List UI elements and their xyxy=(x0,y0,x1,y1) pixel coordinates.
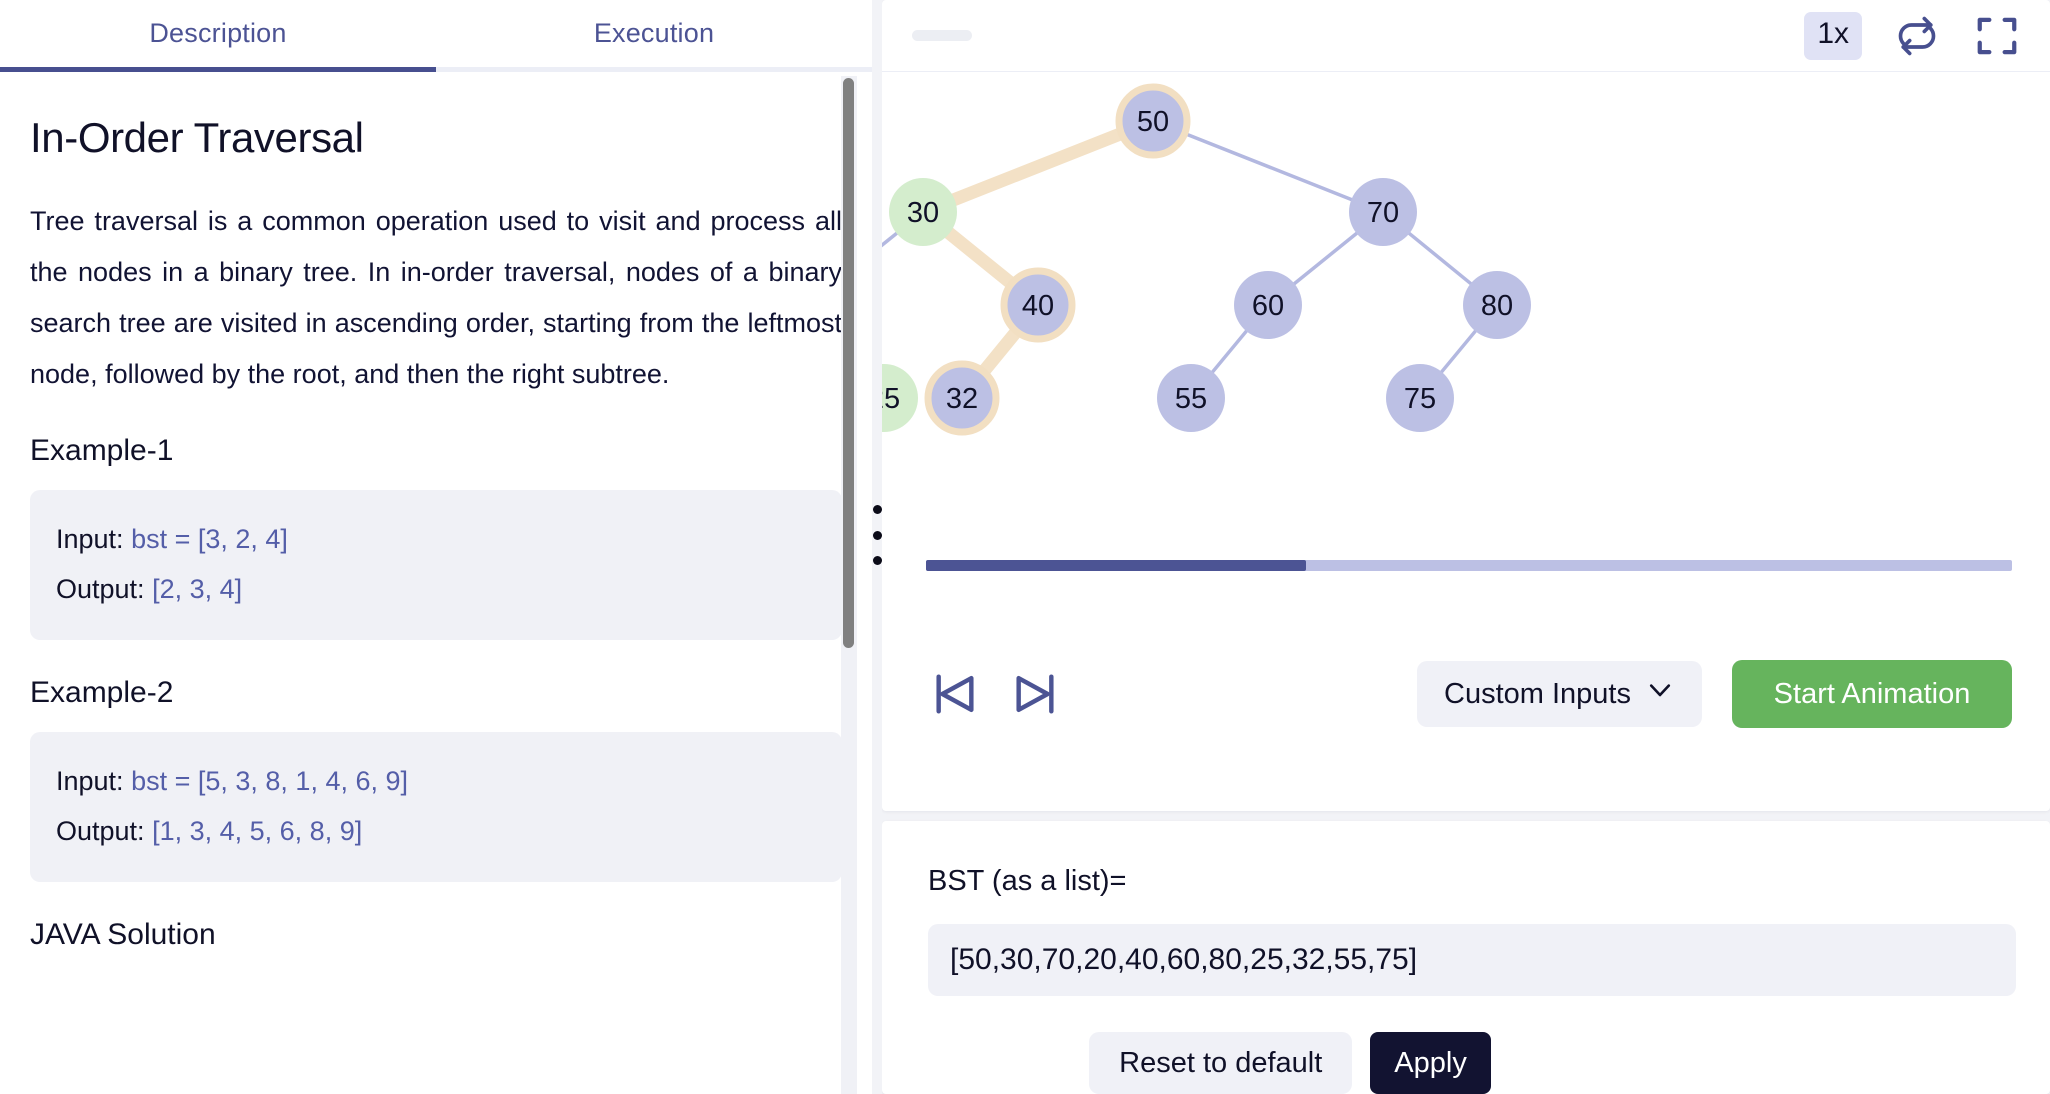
drag-pill-icon[interactable] xyxy=(912,30,972,41)
bst-input-field[interactable]: [50,30,70,20,40,60,80,25,32,55,75] xyxy=(928,924,2016,996)
tree-node-60[interactable]: 60 xyxy=(1234,271,1302,339)
example-2-output-line: Output: [1, 3, 4, 5, 6, 8, 9] xyxy=(56,806,816,856)
example-1-input-line: Input: bst = [3, 2, 4] xyxy=(56,514,816,564)
example-1-code-block: Input: bst = [3, 2, 4] Output: [2, 3, 4] xyxy=(30,490,842,640)
tree-node-40[interactable]: 40 xyxy=(1004,271,1072,339)
grip-dot xyxy=(873,531,882,540)
tree-node-label: 25 xyxy=(882,383,900,415)
example-2-code-block: Input: bst = [5, 3, 8, 1, 4, 6, 9] Outpu… xyxy=(30,732,842,882)
example-2-heading: Example-2 xyxy=(30,676,845,710)
input-action-buttons: Reset to default Apply xyxy=(928,1032,2012,1094)
description-scroll-area[interactable]: In-Order Traversal Tree traversal is a c… xyxy=(0,72,872,1094)
left-panel: Description Execution In-Order Traversal… xyxy=(0,0,872,1094)
tab-description-label: Description xyxy=(149,18,286,49)
tree-node-label: 30 xyxy=(907,197,939,229)
panel-resize-grip-icon[interactable] xyxy=(864,505,890,565)
tree-node-label: 70 xyxy=(1367,197,1399,229)
custom-inputs-card: BST (as a list)= [50,30,70,20,40,60,80,2… xyxy=(882,821,2050,1094)
tree-edge xyxy=(980,327,1021,377)
grip-dot xyxy=(873,505,882,514)
speed-badge[interactable]: 1x xyxy=(1804,12,1862,60)
tree-node-label: 40 xyxy=(1022,290,1054,322)
tree-edge xyxy=(882,230,901,288)
toolbar-actions: 1x xyxy=(1804,11,2022,61)
start-animation-button[interactable]: Start Animation xyxy=(1732,660,2012,728)
grip-dot xyxy=(873,556,882,565)
tree-visualization[interactable]: 5030702040608025325575 xyxy=(882,72,2050,627)
description-paragraph: Tree traversal is a common operation use… xyxy=(30,196,842,400)
tree-node-25[interactable]: 25 xyxy=(882,364,918,432)
visualization-toolbar: 1x xyxy=(882,0,2050,72)
tree-edge xyxy=(949,131,1127,201)
right-panel: 1x xyxy=(882,0,2050,1094)
tab-execution-label: Execution xyxy=(594,18,714,49)
example-2-output-value: [1, 3, 4, 5, 6, 8, 9] xyxy=(152,816,362,846)
tree-node-30[interactable]: 30 xyxy=(889,178,957,246)
tree-node-label: 60 xyxy=(1252,290,1284,322)
example-1-heading: Example-1 xyxy=(30,434,845,468)
tree-node-32[interactable]: 32 xyxy=(928,364,996,432)
fullscreen-icon[interactable] xyxy=(1972,11,2022,61)
tab-description[interactable]: Description xyxy=(0,0,436,72)
binary-tree-svg: 5030702040608025325575 xyxy=(882,72,2050,627)
example-2-output-label: Output: xyxy=(56,816,145,846)
tree-node-label: 32 xyxy=(946,383,978,415)
progress-fill xyxy=(926,560,1306,571)
custom-inputs-dropdown[interactable]: Custom Inputs xyxy=(1417,661,1702,727)
example-2-input-value: [5, 3, 8, 1, 4, 6, 9] xyxy=(198,766,408,796)
repeat-icon[interactable] xyxy=(1892,11,1942,61)
example-2-input-var: bst = xyxy=(131,766,198,796)
tree-edge xyxy=(1290,230,1361,288)
example-1-input-value: [3, 2, 4] xyxy=(198,524,288,554)
tree-edge xyxy=(1179,131,1357,201)
tree-edge xyxy=(945,230,1016,288)
java-solution-heading: JAVA Solution xyxy=(30,918,845,952)
tree-node-50[interactable]: 50 xyxy=(1119,87,1187,155)
app-root: Description Execution In-Order Traversal… xyxy=(0,0,2050,1094)
visualization-card: 1x xyxy=(882,0,2050,811)
tree-node-label: 80 xyxy=(1481,290,1513,322)
example-1-output-label: Output: xyxy=(56,574,145,604)
tree-edge xyxy=(1405,230,1476,288)
custom-inputs-label: Custom Inputs xyxy=(1444,678,1631,711)
tab-bar: Description Execution xyxy=(0,0,872,72)
chevron-down-icon xyxy=(1645,675,1675,713)
bst-input-label: BST (as a list)= xyxy=(928,865,2012,898)
tree-edge xyxy=(1209,327,1250,377)
tree-node-label: 75 xyxy=(1404,383,1436,415)
reset-to-default-button[interactable]: Reset to default xyxy=(1089,1032,1352,1094)
tree-node-55[interactable]: 55 xyxy=(1157,364,1225,432)
tree-edge xyxy=(1438,327,1479,377)
example-1-input-var: bst = xyxy=(131,524,198,554)
progress-track[interactable] xyxy=(926,560,2012,571)
step-buttons xyxy=(926,665,1064,723)
tree-node-label: 50 xyxy=(1137,106,1169,138)
skip-next-icon[interactable] xyxy=(1006,665,1064,723)
skip-previous-icon[interactable] xyxy=(926,665,984,723)
example-1-input-label: Input: xyxy=(56,524,124,554)
tab-execution[interactable]: Execution xyxy=(436,0,872,72)
page-title: In-Order Traversal xyxy=(30,114,845,162)
playback-controls: Custom Inputs Start Animation xyxy=(882,634,2050,754)
tree-node-80[interactable]: 80 xyxy=(1463,271,1531,339)
tree-node-70[interactable]: 70 xyxy=(1349,178,1417,246)
example-2-input-label: Input: xyxy=(56,766,124,796)
example-1-output-line: Output: [2, 3, 4] xyxy=(56,564,816,614)
tree-node-label: 55 xyxy=(1175,383,1207,415)
description-scrollbar-thumb[interactable] xyxy=(843,78,854,648)
apply-button[interactable]: Apply xyxy=(1370,1032,1491,1094)
example-1-output-value: [2, 3, 4] xyxy=(152,574,242,604)
animation-progress-bar[interactable] xyxy=(926,560,2012,571)
tree-node-75[interactable]: 75 xyxy=(1386,364,1454,432)
example-2-input-line: Input: bst = [5, 3, 8, 1, 4, 6, 9] xyxy=(56,756,816,806)
